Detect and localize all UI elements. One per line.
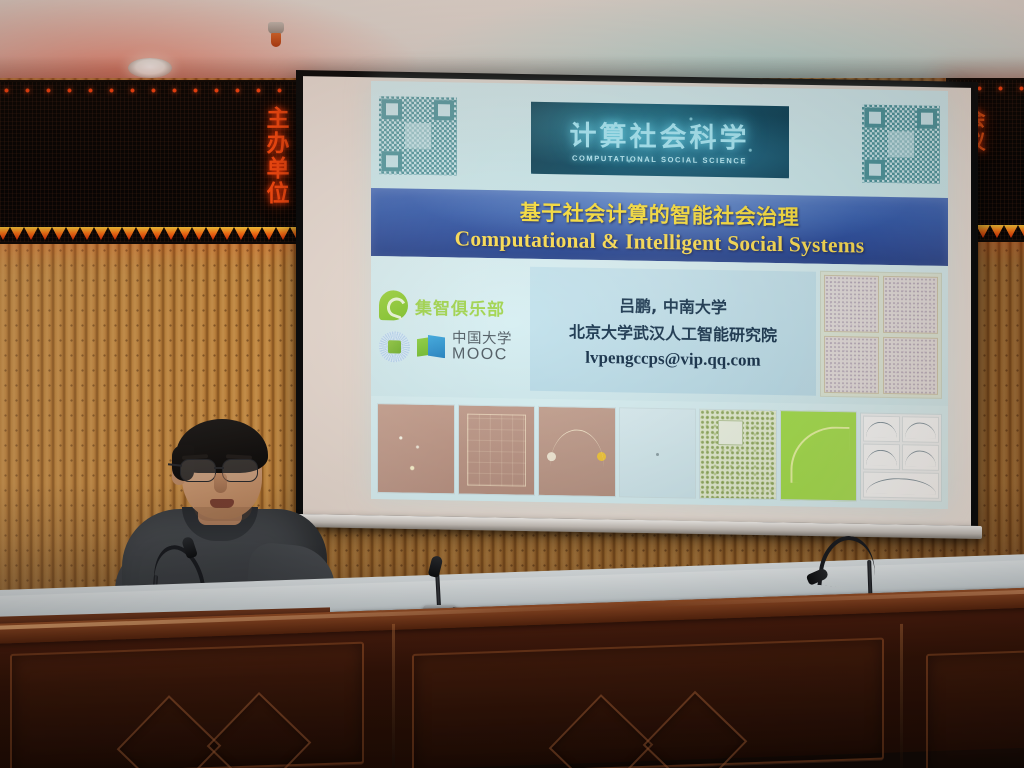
banner-title-cn: 计算社会科学: [570, 113, 750, 155]
presenter-email: lvpengccps@vip.qq.com: [585, 348, 760, 371]
thumb-noise-field: [699, 408, 777, 499]
mooc-label: 中国大学 MOOC: [452, 332, 512, 364]
nose: [214, 473, 227, 493]
network-plot-cell: [824, 275, 879, 333]
presenter-info-box: 吕鹏, 中南大学 北京大学武汉人工智能研究院 lvpengccps@vip.qq…: [530, 267, 816, 396]
desk-diamond-molding: [549, 694, 654, 768]
mini-chart: [863, 471, 939, 498]
desk-diamond-molding: [207, 692, 312, 768]
slide-title-en: Computational & Intelligent Social Syste…: [455, 226, 865, 258]
conference-hall-scene: 主办单位 会议 计算社会科学 COMPUTATIONAL: [0, 0, 1024, 768]
desk-seam: [392, 624, 395, 768]
thumb-blank-plot: [619, 407, 697, 498]
slide-body: 集智俱乐部 中国大学 MOOC 吕鹏, 中南大学 北京大学武汉人工智能研究院 l…: [371, 256, 948, 406]
presenter-name-affiliation: 吕鹏, 中南大学: [619, 292, 727, 318]
presenter-institute: 北京大学武汉人工智能研究院: [569, 318, 777, 346]
sprinkler-icon: [268, 22, 284, 34]
computational-social-science-banner: 计算社会科学 COMPUTATIONAL SOCIAL SCIENCE: [531, 101, 789, 178]
swarma-label: 集智俱乐部: [415, 294, 505, 321]
network-plot-cell: [883, 337, 938, 395]
slide-title-cn: 基于社会计算的智能社会治理: [520, 197, 800, 232]
network-plot-cell: [824, 336, 879, 394]
ceiling-downlight: [128, 58, 172, 78]
thumb-green-curve: [780, 410, 858, 501]
projected-slide: 计算社会科学 COMPUTATIONAL SOCIAL SCIENCE 基于社会…: [371, 81, 948, 509]
seal-logo-icon: [379, 331, 410, 363]
led-pixel-grid: [0, 82, 302, 242]
led-top-dot-row: [0, 86, 302, 95]
swarma-club-logo: 集智俱乐部: [379, 291, 526, 324]
thumb-chart-grid: [860, 412, 942, 501]
desk-panel-molding: [412, 638, 884, 768]
qr-code-icon: [379, 96, 457, 175]
mini-chart: [863, 443, 900, 470]
slide-thumbnail-strip: [371, 396, 948, 509]
desk-seam: [900, 624, 903, 768]
desk-panel-molding: [926, 650, 1024, 768]
mini-chart: [902, 416, 939, 443]
thumb-arc-diagram: [538, 405, 616, 496]
thumb-grid-network: [458, 404, 536, 495]
left-led-text: 主办单位: [263, 106, 286, 206]
desk-panel-molding: [10, 642, 364, 768]
desk-diamond-molding: [117, 695, 222, 768]
mooc-label-en: MOOC: [452, 347, 512, 364]
mini-chart: [902, 444, 939, 471]
led-bottom-chevrons: [0, 227, 302, 240]
left-led-banner: 主办单位: [0, 80, 304, 244]
qr-code-icon: [862, 104, 940, 183]
desk-diamond-molding: [643, 691, 748, 768]
mooc-mark-icon: [417, 335, 445, 359]
network-plots-quad: [820, 271, 942, 399]
slide-header: 计算社会科学 COMPUTATIONAL SOCIAL SCIENCE: [371, 81, 948, 198]
thumb-burst-network: [377, 403, 455, 494]
swarma-mark-icon: [379, 291, 408, 322]
chin-shadow: [194, 507, 252, 521]
network-plot-cell: [883, 276, 938, 334]
mini-chart: [863, 415, 900, 442]
sponsor-logos: 集智俱乐部 中国大学 MOOC: [371, 290, 526, 364]
slide-title-band: 基于社会计算的智能社会治理 Computational & Intelligen…: [371, 188, 948, 266]
mooc-logo-row: 中国大学 MOOC: [379, 331, 526, 365]
